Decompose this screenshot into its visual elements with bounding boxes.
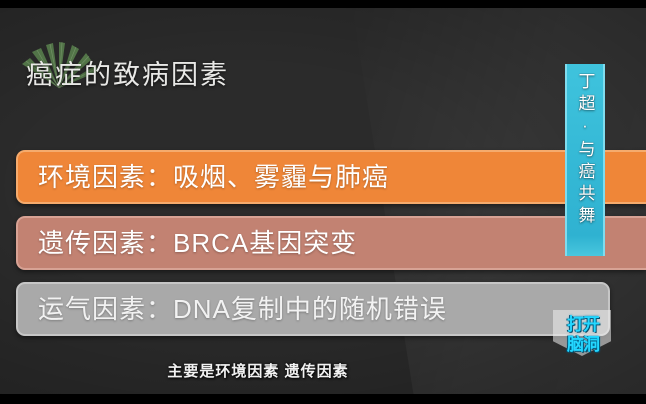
channel-vertical-label-text: 丁超·与癌共舞: [573, 72, 598, 228]
watermark-line-2: 脑洞: [543, 330, 623, 355]
slide-stage: 癌症的致病因素 环境因素：吸烟、雾霾与肺癌 遗传因素：BRCA基因突变 运气因素…: [0, 8, 646, 394]
factor-bar-environment[interactable]: 环境因素：吸烟、雾霾与肺癌: [16, 150, 646, 204]
factor-bar-environment-label: 环境因素：吸烟、雾霾与肺癌: [18, 162, 389, 192]
letterbox-top: [0, 0, 646, 8]
page-title: 癌症的致病因素: [26, 58, 229, 92]
letterbox-bottom: [0, 394, 646, 404]
factor-bar-genetics-label: 遗传因素：BRCA基因突变: [18, 228, 357, 258]
channel-vertical-label[interactable]: 丁超·与癌共舞: [565, 64, 605, 236]
slide-canvas: 癌症的致病因素 环境因素：吸烟、雾霾与肺癌 遗传因素：BRCA基因突变 运气因素…: [0, 0, 646, 404]
factor-bar-luck-label: 运气因素：DNA复制中的随机错误: [18, 294, 447, 324]
factor-bar-genetics[interactable]: 遗传因素：BRCA基因突变: [16, 216, 646, 270]
channel-vertical-label-tail: [565, 236, 605, 256]
factor-bar-luck[interactable]: 运气因素：DNA复制中的随机错误: [16, 282, 610, 336]
subtitle-caption: 主要是环境因素 遗传因素: [0, 360, 646, 381]
